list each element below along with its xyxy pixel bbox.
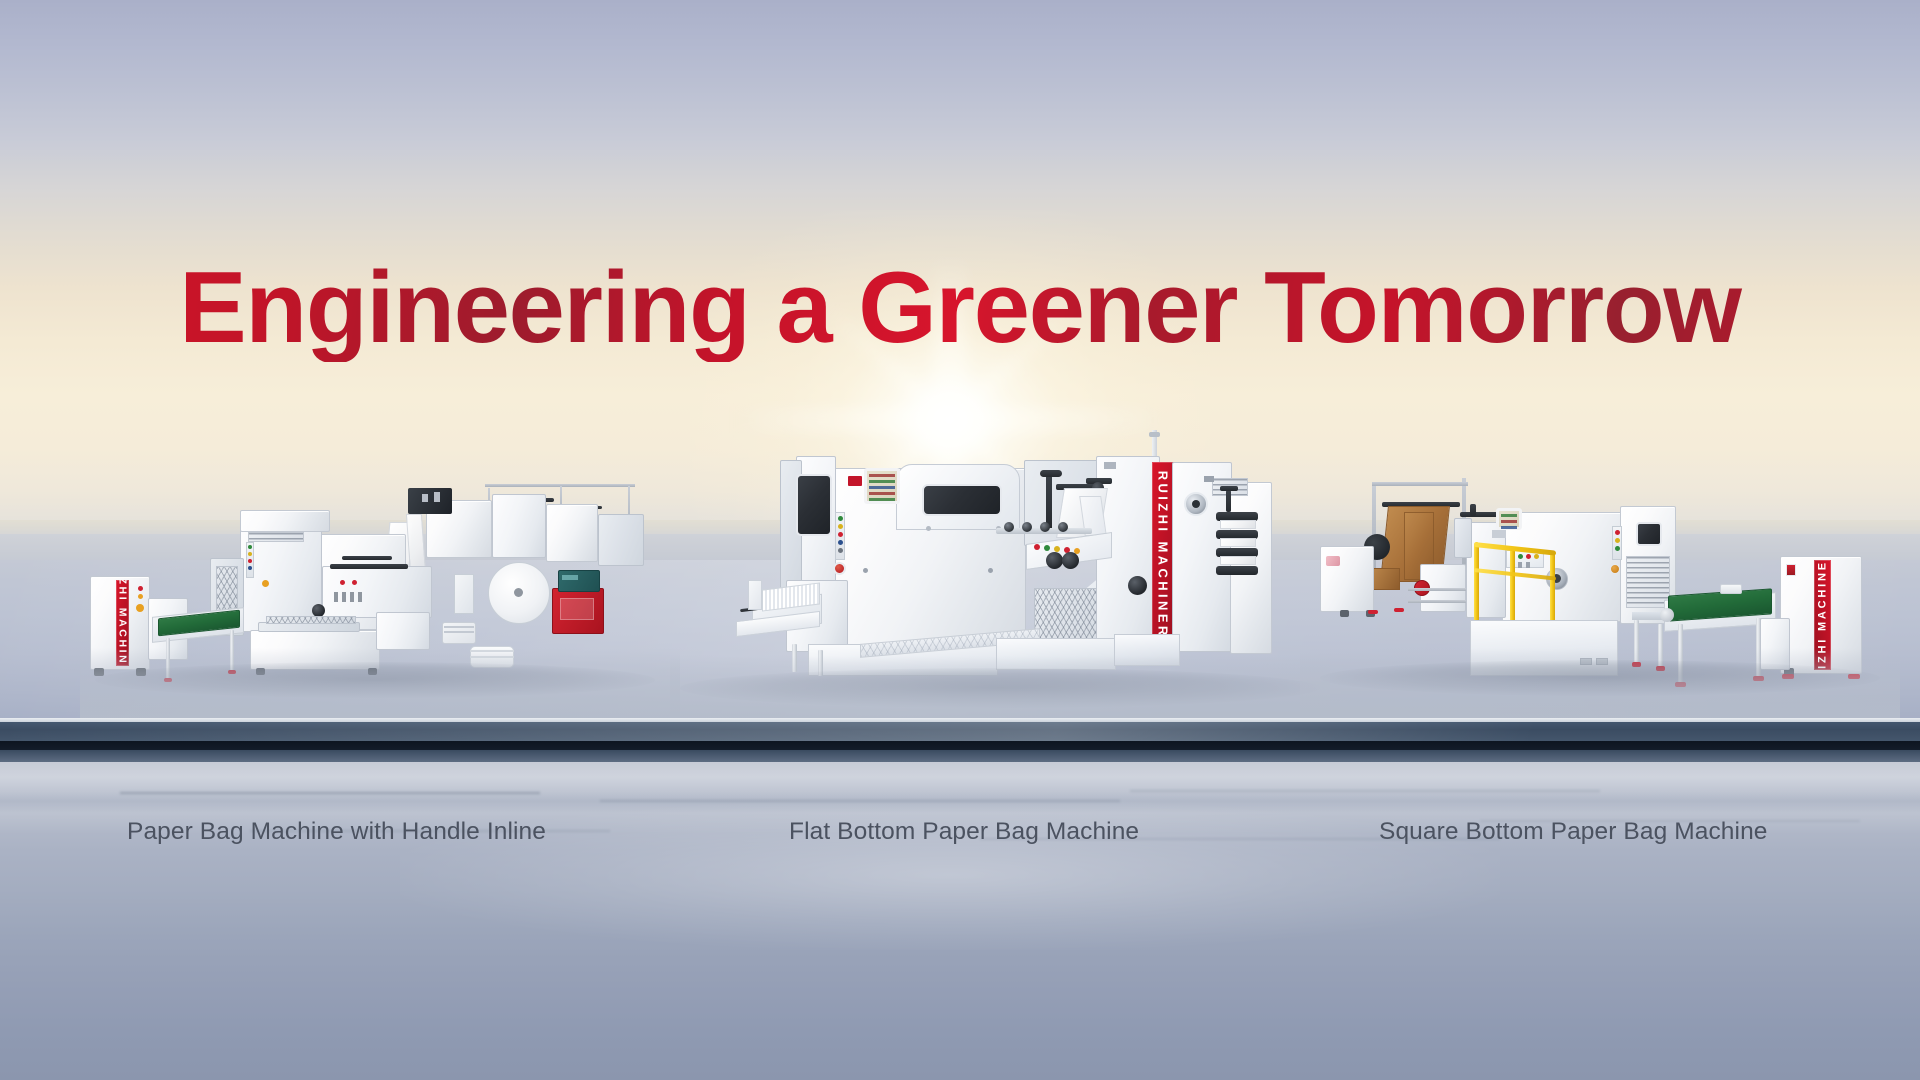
floor-streak-line [1130, 790, 1600, 792]
platform-edge-band [0, 722, 1920, 741]
brand-text: RUIZHI MACHINERY [117, 580, 129, 666]
brand-banner: RUIZHI MACHINERY [1814, 560, 1831, 670]
machine-group-flat-bottom: RUIZHI MACHINERY [700, 430, 1300, 730]
hmi-touchscreen[interactable] [1496, 508, 1522, 530]
caption-square-bottom: Square Bottom Paper Bag Machine [1379, 818, 1768, 846]
brand-banner: RUIZHI MACHINERY [116, 580, 129, 666]
brand-banner: RUIZHI MACHINERY [1152, 462, 1174, 658]
brand-text: RUIZHI MACHINERY [1156, 470, 1171, 650]
caption-handle-inline: Paper Bag Machine with Handle Inline [127, 818, 546, 846]
brand-text: RUIZHI MACHINERY [1816, 560, 1828, 670]
floor-streak-line [600, 800, 1120, 802]
platform-edge-lower [0, 750, 1920, 762]
product-captions: Paper Bag Machine with Handle Inline Fla… [0, 818, 1920, 858]
hero-banner: Engineering a Greener Tomorrow [0, 0, 1920, 1080]
reflective-floor [0, 762, 1920, 1080]
machine-group-handle-inline: RUIZHI MACHINERY [90, 470, 650, 720]
hmi-touchscreen[interactable] [864, 468, 900, 504]
page-title: Engineering a Greener Tomorrow [0, 255, 1920, 362]
floor-streak-line [120, 792, 540, 794]
platform-edge-shadow [0, 741, 1920, 750]
machine-group-square-bottom: RUIZHI MACHINERY [1320, 468, 1880, 718]
caption-flat-bottom: Flat Bottom Paper Bag Machine [789, 818, 1139, 846]
